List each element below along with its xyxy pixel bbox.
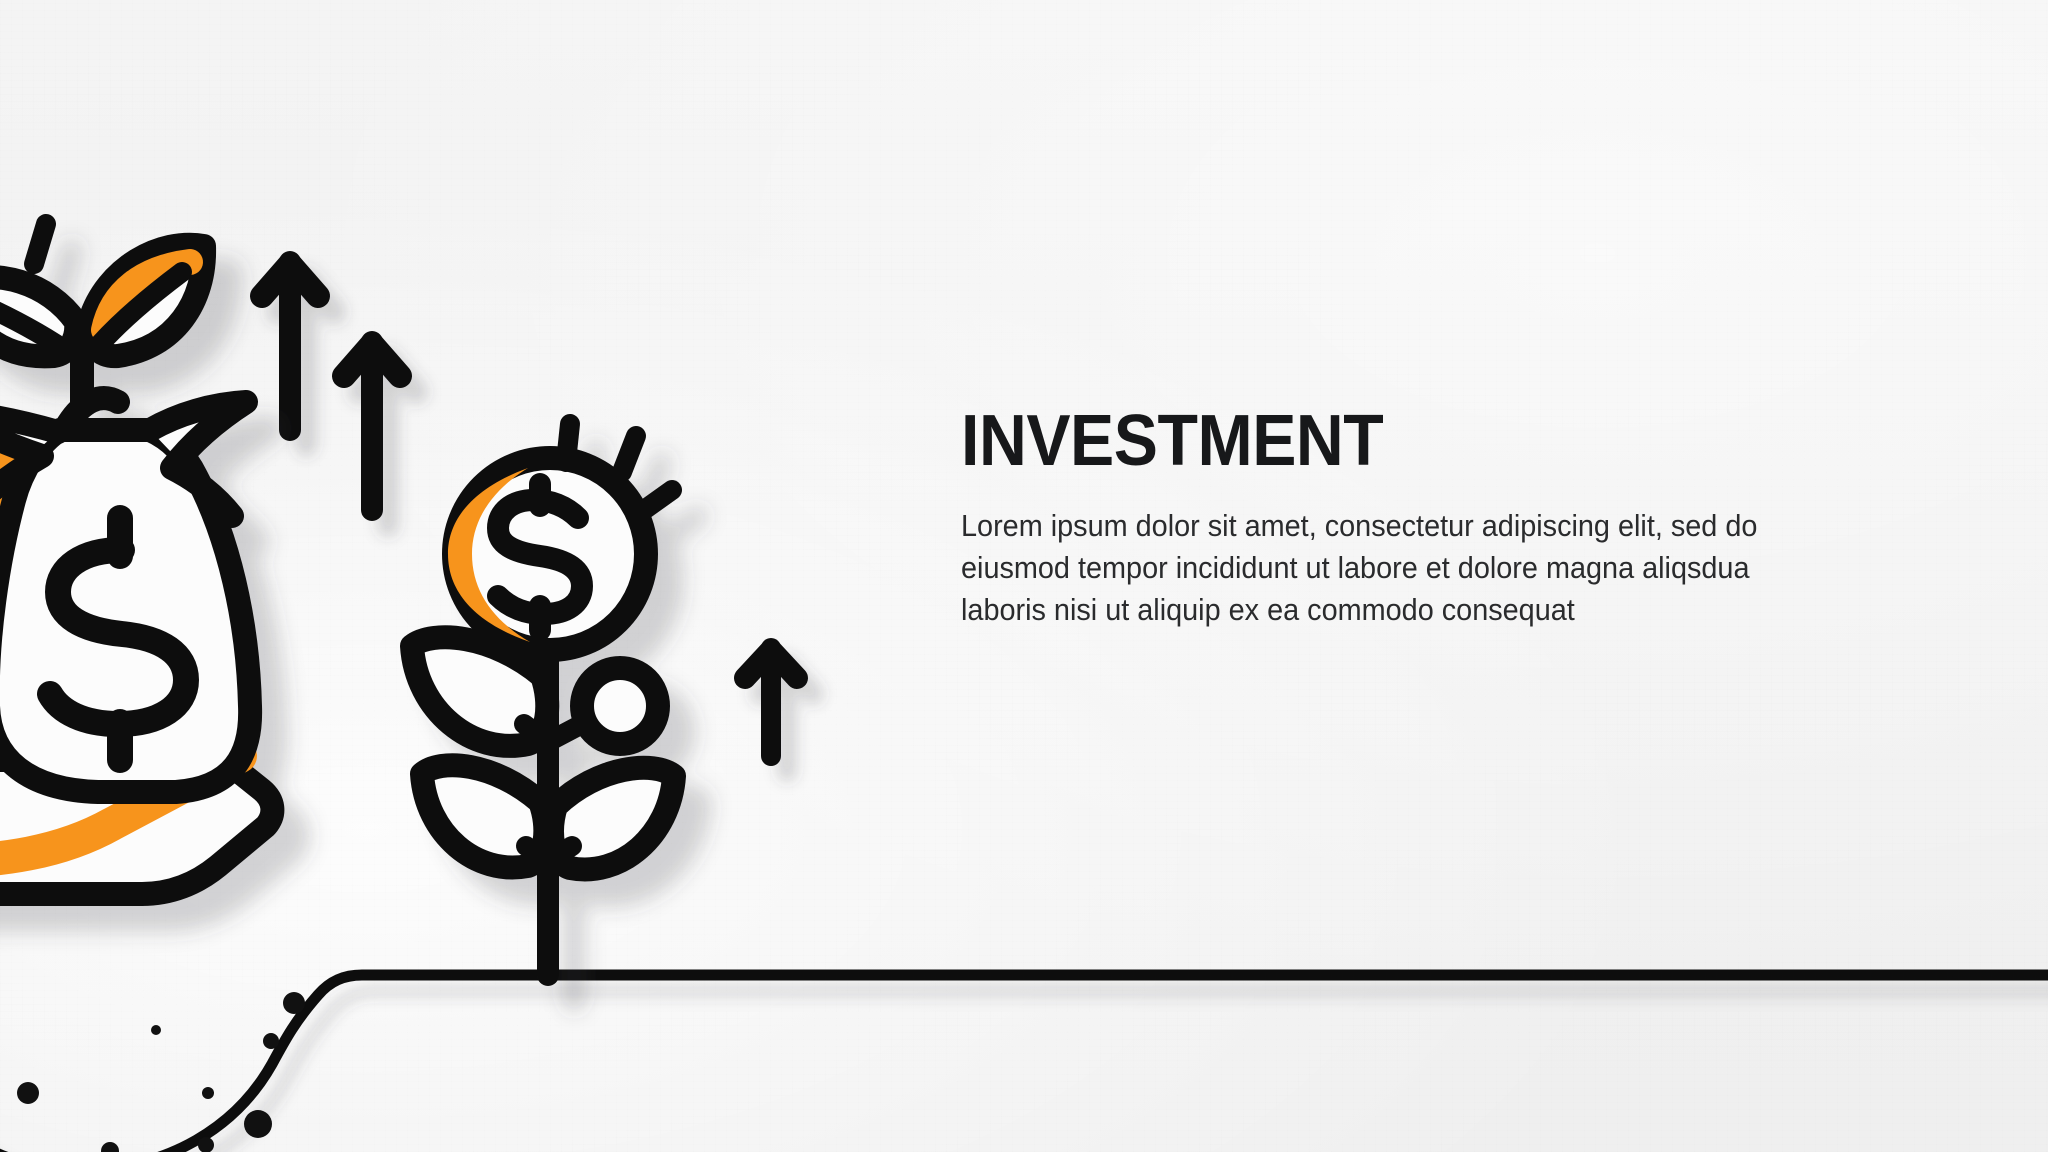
money-bag-icon xyxy=(0,224,272,894)
scatter-dot xyxy=(202,1087,214,1099)
scatter-dot xyxy=(17,1082,39,1104)
dollar-sign-coin xyxy=(498,484,582,630)
scatter-dot xyxy=(151,1025,161,1035)
growth-arrow-short xyxy=(745,648,797,756)
growth-arrow-mid xyxy=(344,342,400,510)
body-paragraph: Lorem ipsum dolor sit amet, consectetur … xyxy=(961,505,1845,631)
spark-dash xyxy=(34,224,46,264)
scatter-dot xyxy=(263,1033,279,1049)
scatter-dot xyxy=(101,1142,119,1152)
ground-line xyxy=(0,975,2048,1152)
coin-plant-icon xyxy=(412,424,674,975)
body-line: eiusmod tempor incididunt ut labore et d… xyxy=(961,547,1845,589)
page-title: INVESTMENT xyxy=(961,405,1789,477)
scatter-dot xyxy=(244,1110,272,1138)
sparkle-dash xyxy=(622,436,636,472)
copy-block: INVESTMENT Lorem ipsum dolor sit amet, c… xyxy=(961,405,1861,631)
body-line: laboris nisi ut aliquip ex ea commodo co… xyxy=(961,589,1845,631)
banner-root: INVESTMENT Lorem ipsum dolor sit amet, c… xyxy=(0,0,2048,1152)
body-line: Lorem ipsum dolor sit amet, consectetur … xyxy=(961,505,1845,547)
scatter-dot xyxy=(283,992,305,1014)
sparkle-dash xyxy=(644,490,672,510)
growth-arrow-tall xyxy=(262,262,318,430)
coin-icon xyxy=(448,458,646,650)
plant-bud xyxy=(582,668,658,744)
ground-line-group xyxy=(0,975,2048,1152)
sparkle-dash xyxy=(566,424,570,462)
